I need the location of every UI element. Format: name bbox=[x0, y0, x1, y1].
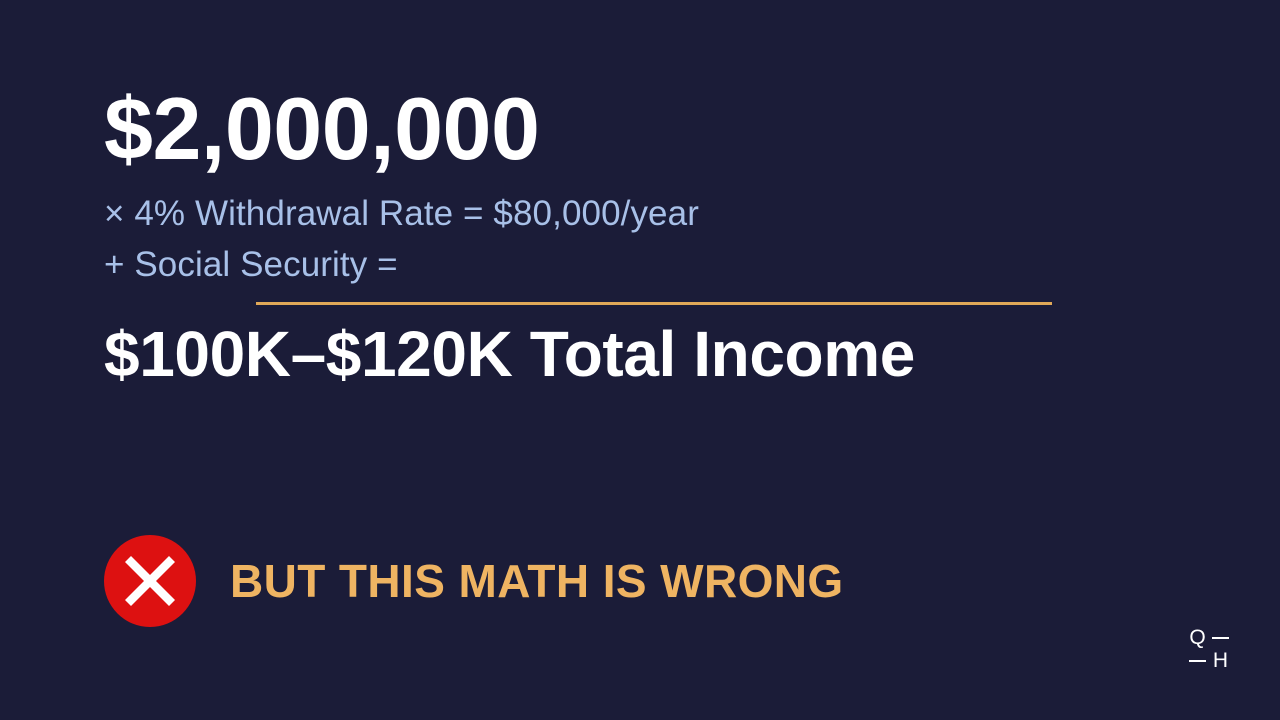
warning-row: BUT THIS MATH IS WRONG bbox=[104, 535, 844, 627]
calculation-lines: × 4% Withdrawal Rate = $80,000/year + So… bbox=[104, 188, 1204, 290]
error-x-circle-icon bbox=[104, 535, 196, 627]
calculation-divider-rule bbox=[256, 302, 1052, 305]
calculation-block: $2,000,000 × 4% Withdrawal Rate = $80,00… bbox=[104, 84, 1204, 391]
slide-canvas: $2,000,000 × 4% Withdrawal Rate = $80,00… bbox=[0, 0, 1280, 720]
logo-letter-h: H bbox=[1213, 650, 1228, 671]
logo-dash-bottom-icon bbox=[1189, 660, 1206, 662]
calculation-line-withdrawal-rate: × 4% Withdrawal Rate = $80,000/year bbox=[104, 188, 1204, 239]
warning-text: BUT THIS MATH IS WRONG bbox=[230, 558, 844, 604]
calculation-line-social-security: + Social Security = bbox=[104, 239, 1204, 290]
brand-logo: Q H bbox=[1186, 626, 1232, 672]
logo-letter-q: Q bbox=[1189, 627, 1205, 648]
headline-portfolio-value: $2,000,000 bbox=[104, 84, 1204, 174]
logo-dash-top-icon bbox=[1212, 637, 1229, 639]
calculation-result-total-income: $100K–$120K Total Income bbox=[104, 319, 1204, 391]
